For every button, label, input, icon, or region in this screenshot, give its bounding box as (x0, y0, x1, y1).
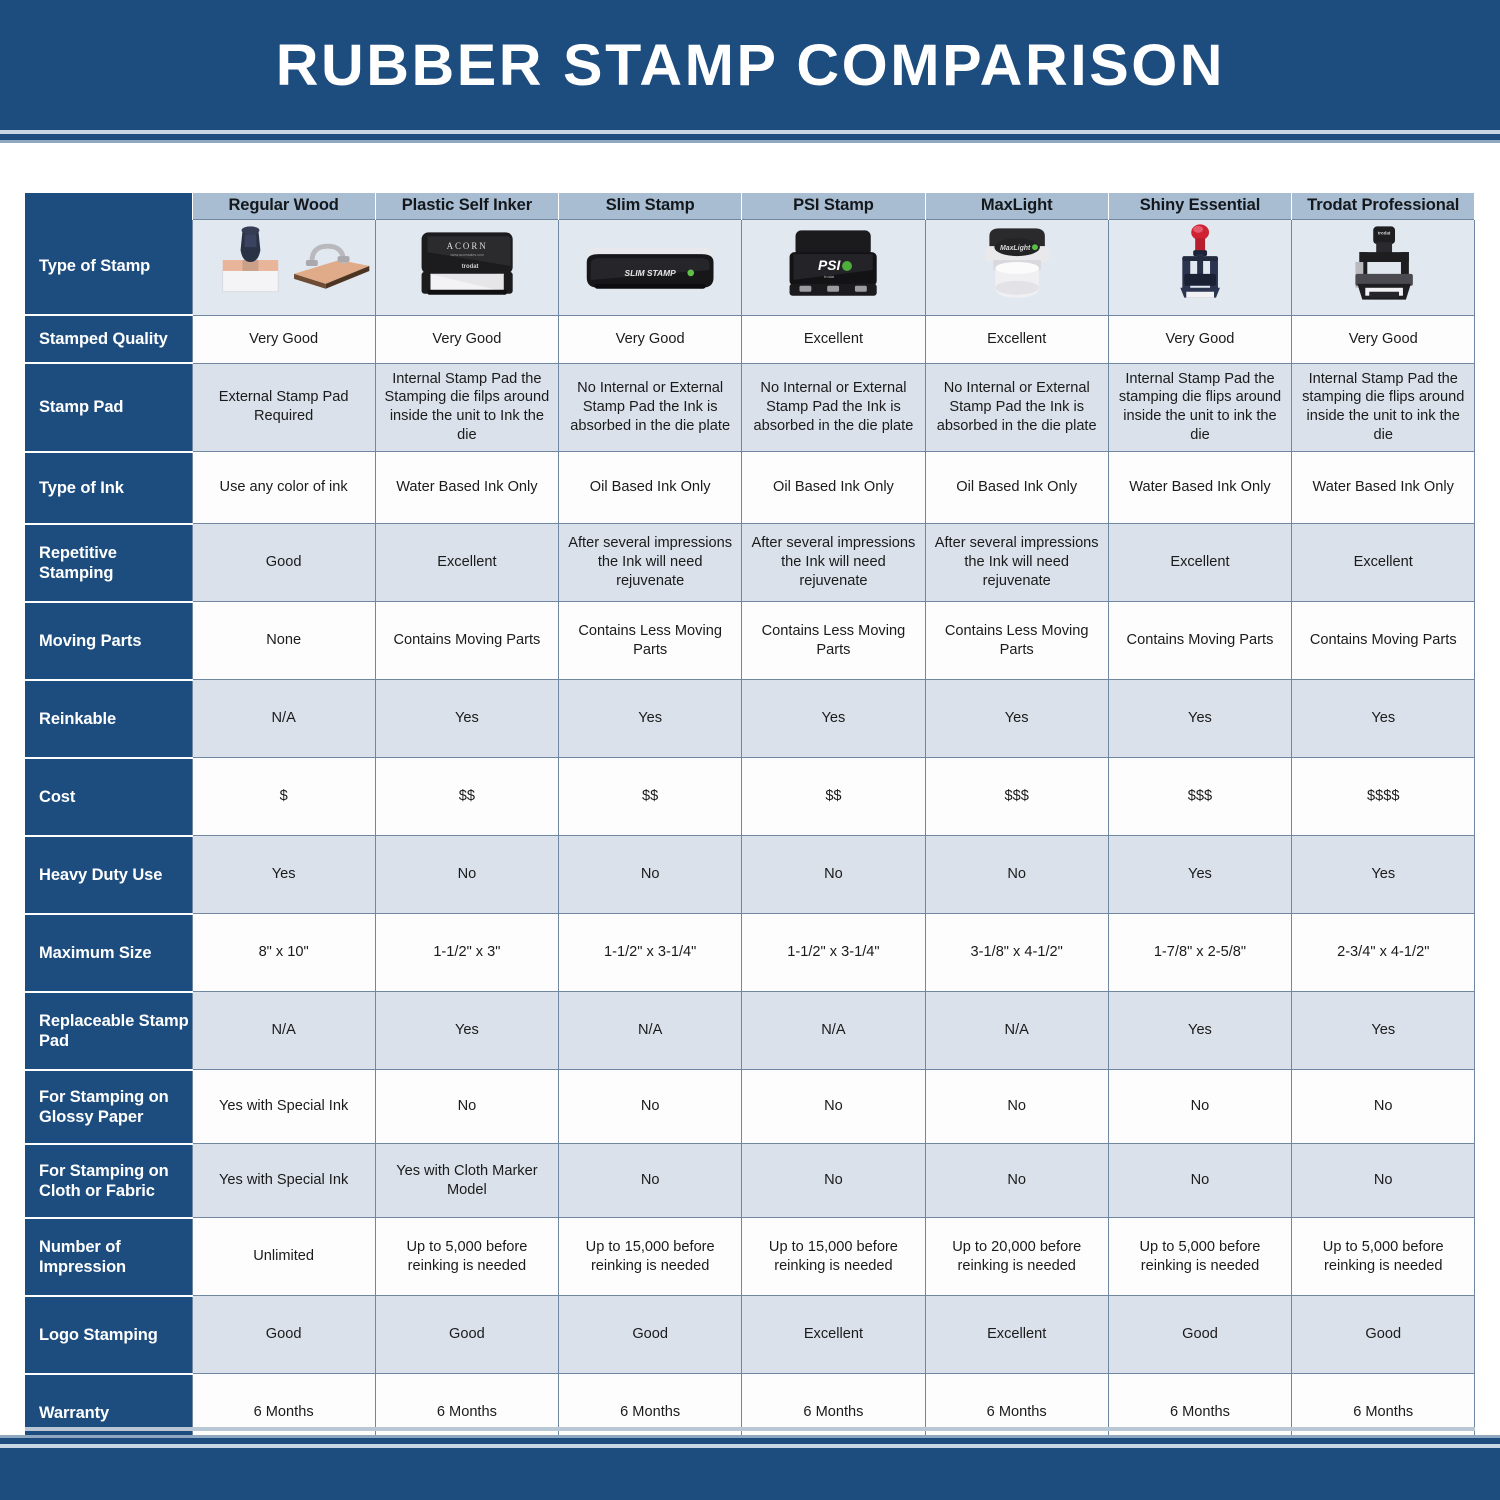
cell-heavy-duty-use-psi-stamp: No (742, 836, 925, 914)
row-label-repetitive-stamping: Repetitive Stamping (25, 524, 192, 602)
shiny-essential-stamp-icon (1111, 222, 1289, 308)
cell-logo-stamping-maxlight: Excellent (925, 1296, 1108, 1374)
cell-glossy-paper-regular-wood: Yes with Special Ink (192, 1070, 375, 1144)
cell-reinkable-regular-wood: N/A (192, 680, 375, 758)
table-row-stamping-on-cloth-or-fabric: For Stamping on Cloth or Fabric Yes with… (25, 1144, 1475, 1218)
cell-moving-parts-regular-wood: None (192, 602, 375, 680)
table-row-stamp-pad: Stamp Pad External Stamp Pad Required In… (25, 363, 1475, 452)
cell-heavy-duty-use-slim-stamp: No (559, 836, 742, 914)
cell-heavy-duty-use-shiny-essential: Yes (1108, 836, 1291, 914)
cell-cloth-fabric-slim-stamp: No (559, 1144, 742, 1218)
row-label-stamping-on-glossy-paper: For Stamping on Glossy Paper (25, 1070, 192, 1144)
cell-stamped-quality-trodat-professional: Very Good (1292, 315, 1475, 363)
cell-number-of-impression-maxlight: Up to 20,000 before reinking is needed (925, 1218, 1108, 1296)
cell-replaceable-stamp-pad-psi-stamp: N/A (742, 992, 925, 1070)
svg-text:ACORN: ACORN (446, 241, 487, 251)
cell-cloth-fabric-psi-stamp: No (742, 1144, 925, 1218)
row-label-stamping-on-cloth-or-fabric: For Stamping on Cloth or Fabric (25, 1144, 192, 1218)
table-row-repetitive-stamping: Repetitive Stamping Good Excellent After… (25, 524, 1475, 602)
cell-logo-stamping-shiny-essential: Good (1108, 1296, 1291, 1374)
table-row-reinkable: Reinkable N/A Yes Yes Yes Yes Yes Yes (25, 680, 1475, 758)
column-header-trodat-professional: Trodat Professional (1292, 193, 1475, 219)
cell-logo-stamping-regular-wood: Good (192, 1296, 375, 1374)
cell-heavy-duty-use-plastic-self-inker: No (375, 836, 558, 914)
cell-cloth-fabric-regular-wood: Yes with Special Ink (192, 1144, 375, 1218)
table-row-type-of-ink: Type of Ink Use any color of ink Water B… (25, 452, 1475, 524)
comparison-page: RUBBER STAMP COMPARISON Regular Wood Pla… (0, 0, 1500, 1500)
table-row-moving-parts: Moving Parts None Contains Moving Parts … (25, 602, 1475, 680)
row-label-type-of-ink: Type of Ink (25, 452, 192, 524)
svg-text:trodat: trodat (461, 263, 478, 269)
cell-repetitive-stamping-slim-stamp: After several impressions the Ink will n… (559, 524, 742, 602)
cell-type-of-ink-psi-stamp: Oil Based Ink Only (742, 452, 925, 524)
cell-type-of-stamp-shiny-essential (1108, 219, 1291, 315)
cell-type-of-stamp-psi-stamp: PSI trodat (742, 219, 925, 315)
plastic-self-inker-stamp-icon: ACORN www.acornsales.com trodat (378, 222, 556, 308)
cell-maximum-size-maxlight: 3-1/8" x 4-1/2" (925, 914, 1108, 992)
cell-number-of-impression-trodat-professional: Up to 5,000 before reinking is needed (1292, 1218, 1475, 1296)
page-title: RUBBER STAMP COMPARISON (275, 32, 1224, 99)
cell-replaceable-stamp-pad-trodat-professional: Yes (1292, 992, 1475, 1070)
table-row-stamped-quality: Stamped Quality Very Good Very Good Very… (25, 315, 1475, 363)
cell-stamped-quality-shiny-essential: Very Good (1108, 315, 1291, 363)
cell-type-of-ink-plastic-self-inker: Water Based Ink Only (375, 452, 558, 524)
cell-cloth-fabric-trodat-professional: No (1292, 1144, 1475, 1218)
cell-cloth-fabric-plastic-self-inker: Yes with Cloth Marker Model (375, 1144, 558, 1218)
cell-replaceable-stamp-pad-plastic-self-inker: Yes (375, 992, 558, 1070)
cell-glossy-paper-shiny-essential: No (1108, 1070, 1291, 1144)
cell-reinkable-slim-stamp: Yes (559, 680, 742, 758)
table-corner-cell (25, 193, 192, 219)
cell-type-of-stamp-regular-wood (192, 219, 375, 315)
cell-number-of-impression-shiny-essential: Up to 5,000 before reinking is needed (1108, 1218, 1291, 1296)
cell-number-of-impression-regular-wood: Unlimited (192, 1218, 375, 1296)
column-header-slim-stamp: Slim Stamp (559, 193, 742, 219)
psi-stamp-icon: PSI trodat (744, 222, 922, 308)
column-header-regular-wood: Regular Wood (192, 193, 375, 219)
cell-logo-stamping-trodat-professional: Good (1292, 1296, 1475, 1374)
cell-repetitive-stamping-psi-stamp: After several impressions the Ink will n… (742, 524, 925, 602)
cell-glossy-paper-plastic-self-inker: No (375, 1070, 558, 1144)
cell-reinkable-shiny-essential: Yes (1108, 680, 1291, 758)
page-footer-band (0, 1448, 1500, 1500)
cell-type-of-stamp-maxlight: MaxLight (925, 219, 1108, 315)
table-row-maximum-size: Maximum Size 8" x 10" 1-1/2" x 3" 1-1/2"… (25, 914, 1475, 992)
cell-replaceable-stamp-pad-shiny-essential: Yes (1108, 992, 1291, 1070)
cell-type-of-ink-shiny-essential: Water Based Ink Only (1108, 452, 1291, 524)
cell-replaceable-stamp-pad-regular-wood: N/A (192, 992, 375, 1070)
row-label-replaceable-stamp-pad: Replaceable Stamp Pad (25, 992, 192, 1070)
cell-number-of-impression-plastic-self-inker: Up to 5,000 before reinking is needed (375, 1218, 558, 1296)
cell-glossy-paper-slim-stamp: No (559, 1070, 742, 1144)
cell-glossy-paper-psi-stamp: No (742, 1070, 925, 1144)
cell-cost-regular-wood: $ (192, 758, 375, 836)
cell-stamp-pad-maxlight: No Internal or External Stamp Pad the In… (925, 363, 1108, 452)
cell-stamped-quality-maxlight: Excellent (925, 315, 1108, 363)
page-banner: RUBBER STAMP COMPARISON (0, 0, 1500, 130)
cell-moving-parts-trodat-professional: Contains Moving Parts (1292, 602, 1475, 680)
cell-moving-parts-psi-stamp: Contains Less Moving Parts (742, 602, 925, 680)
cell-stamp-pad-slim-stamp: No Internal or External Stamp Pad the In… (559, 363, 742, 452)
cell-type-of-stamp-trodat-professional: trodat (1292, 219, 1475, 315)
row-label-reinkable: Reinkable (25, 680, 192, 758)
cell-stamp-pad-trodat-professional: Internal Stamp Pad the stamping die flip… (1292, 363, 1475, 452)
cell-cost-slim-stamp: $$ (559, 758, 742, 836)
table-head: Regular Wood Plastic Self Inker Slim Sta… (25, 193, 1475, 219)
row-label-cost: Cost (25, 758, 192, 836)
cell-maximum-size-regular-wood: 8" x 10" (192, 914, 375, 992)
cell-cost-psi-stamp: $$ (742, 758, 925, 836)
table-row-heavy-duty-use: Heavy Duty Use Yes No No No No Yes Yes (25, 836, 1475, 914)
cell-logo-stamping-slim-stamp: Good (559, 1296, 742, 1374)
cell-moving-parts-shiny-essential: Contains Moving Parts (1108, 602, 1291, 680)
row-label-logo-stamping: Logo Stamping (25, 1296, 192, 1374)
row-label-stamp-pad: Stamp Pad (25, 363, 192, 452)
cell-heavy-duty-use-maxlight: No (925, 836, 1108, 914)
cell-maximum-size-psi-stamp: 1-1/2" x 3-1/4" (742, 914, 925, 992)
cell-moving-parts-plastic-self-inker: Contains Moving Parts (375, 602, 558, 680)
table-row-type-of-stamp: Type of Stamp (25, 219, 1475, 315)
cell-cost-maxlight: $$$ (925, 758, 1108, 836)
cell-type-of-stamp-plastic-self-inker: ACORN www.acornsales.com trodat (375, 219, 558, 315)
cell-replaceable-stamp-pad-maxlight: N/A (925, 992, 1108, 1070)
cell-stamped-quality-regular-wood: Very Good (192, 315, 375, 363)
cell-type-of-ink-slim-stamp: Oil Based Ink Only (559, 452, 742, 524)
cell-maximum-size-slim-stamp: 1-1/2" x 3-1/4" (559, 914, 742, 992)
table-row-replaceable-stamp-pad: Replaceable Stamp Pad N/A Yes N/A N/A N/… (25, 992, 1475, 1070)
cell-stamp-pad-regular-wood: External Stamp Pad Required (192, 363, 375, 452)
cell-stamp-pad-plastic-self-inker: Internal Stamp Pad the Stamping die filp… (375, 363, 558, 452)
cell-cost-trodat-professional: $$$$ (1292, 758, 1475, 836)
cell-stamped-quality-psi-stamp: Excellent (742, 315, 925, 363)
column-header-plastic-self-inker: Plastic Self Inker (375, 193, 558, 219)
cell-heavy-duty-use-trodat-professional: Yes (1292, 836, 1475, 914)
comparison-table-wrapper: Regular Wood Plastic Self Inker Slim Sta… (25, 193, 1475, 1452)
cell-repetitive-stamping-plastic-self-inker: Excellent (375, 524, 558, 602)
wood-handle-stamp-icon (195, 222, 373, 308)
column-header-maxlight: MaxLight (925, 193, 1108, 219)
row-label-type-of-stamp: Type of Stamp (25, 219, 192, 315)
banner-divider-mid (0, 140, 1500, 143)
cell-cloth-fabric-shiny-essential: No (1108, 1144, 1291, 1218)
cell-reinkable-psi-stamp: Yes (742, 680, 925, 758)
column-header-shiny-essential: Shiny Essential (1108, 193, 1291, 219)
cell-maximum-size-plastic-self-inker: 1-1/2" x 3" (375, 914, 558, 992)
comparison-table: Regular Wood Plastic Self Inker Slim Sta… (25, 193, 1475, 1452)
cell-number-of-impression-slim-stamp: Up to 15,000 before reinking is needed (559, 1218, 742, 1296)
cell-maximum-size-trodat-professional: 2-3/4" x 4-1/2" (1292, 914, 1475, 992)
table-row-stamping-on-glossy-paper: For Stamping on Glossy Paper Yes with Sp… (25, 1070, 1475, 1144)
table-row-number-of-impression: Number of Impression Unlimited Up to 5,0… (25, 1218, 1475, 1296)
cell-number-of-impression-psi-stamp: Up to 15,000 before reinking is needed (742, 1218, 925, 1296)
cell-repetitive-stamping-trodat-professional: Excellent (1292, 524, 1475, 602)
cell-replaceable-stamp-pad-slim-stamp: N/A (559, 992, 742, 1070)
cell-maximum-size-shiny-essential: 1-7/8" x 2-5/8" (1108, 914, 1291, 992)
cell-stamped-quality-slim-stamp: Very Good (559, 315, 742, 363)
cell-moving-parts-slim-stamp: Contains Less Moving Parts (559, 602, 742, 680)
svg-text:www.acornsales.com: www.acornsales.com (450, 253, 483, 257)
svg-text:MaxLight: MaxLight (1000, 245, 1031, 252)
cell-glossy-paper-trodat-professional: No (1292, 1070, 1475, 1144)
cell-repetitive-stamping-regular-wood: Good (192, 524, 375, 602)
cell-heavy-duty-use-regular-wood: Yes (192, 836, 375, 914)
row-label-stamped-quality: Stamped Quality (25, 315, 192, 363)
column-header-psi-stamp: PSI Stamp (742, 193, 925, 219)
cell-stamp-pad-psi-stamp: No Internal or External Stamp Pad the In… (742, 363, 925, 452)
cell-moving-parts-maxlight: Contains Less Moving Parts (925, 602, 1108, 680)
cell-glossy-paper-maxlight: No (925, 1070, 1108, 1144)
cell-cloth-fabric-maxlight: No (925, 1144, 1108, 1218)
cell-logo-stamping-psi-stamp: Excellent (742, 1296, 925, 1374)
cell-stamp-pad-shiny-essential: Internal Stamp Pad the stamping die flip… (1108, 363, 1291, 452)
cell-reinkable-trodat-professional: Yes (1292, 680, 1475, 758)
cell-type-of-ink-maxlight: Oil Based Ink Only (925, 452, 1108, 524)
cell-repetitive-stamping-shiny-essential: Excellent (1108, 524, 1291, 602)
row-label-moving-parts: Moving Parts (25, 602, 192, 680)
cell-type-of-stamp-slim-stamp: SLIM STAMP (559, 219, 742, 315)
table-row-cost: Cost $ $$ $$ $$ $$$ $$$ $$$$ (25, 758, 1475, 836)
svg-text:SLIM STAMP: SLIM STAMP (625, 267, 677, 277)
cell-reinkable-plastic-self-inker: Yes (375, 680, 558, 758)
slim-stamp-icon: SLIM STAMP (561, 222, 739, 308)
cell-reinkable-maxlight: Yes (925, 680, 1108, 758)
row-label-number-of-impression: Number of Impression (25, 1218, 192, 1296)
row-label-maximum-size: Maximum Size (25, 914, 192, 992)
cell-logo-stamping-plastic-self-inker: Good (375, 1296, 558, 1374)
cell-type-of-ink-regular-wood: Use any color of ink (192, 452, 375, 524)
cell-stamped-quality-plastic-self-inker: Very Good (375, 315, 558, 363)
table-bottom-edge (25, 1427, 1475, 1431)
svg-text:trodat: trodat (824, 273, 835, 278)
cell-type-of-ink-trodat-professional: Water Based Ink Only (1292, 452, 1475, 524)
row-label-heavy-duty-use: Heavy Duty Use (25, 836, 192, 914)
svg-text:PSI: PSI (818, 256, 841, 272)
cell-cost-shiny-essential: $$$ (1108, 758, 1291, 836)
cell-cost-plastic-self-inker: $$ (375, 758, 558, 836)
cell-repetitive-stamping-maxlight: After several impressions the Ink will n… (925, 524, 1108, 602)
svg-text:trodat: trodat (1378, 230, 1391, 235)
maxlight-round-stamp-icon: MaxLight (928, 222, 1106, 308)
column-header-row: Regular Wood Plastic Self Inker Slim Sta… (25, 193, 1475, 219)
table-row-logo-stamping: Logo Stamping Good Good Good Excellent E… (25, 1296, 1475, 1374)
trodat-professional-stamp-icon: trodat (1294, 222, 1472, 308)
table-body: Type of Stamp (25, 219, 1475, 1452)
